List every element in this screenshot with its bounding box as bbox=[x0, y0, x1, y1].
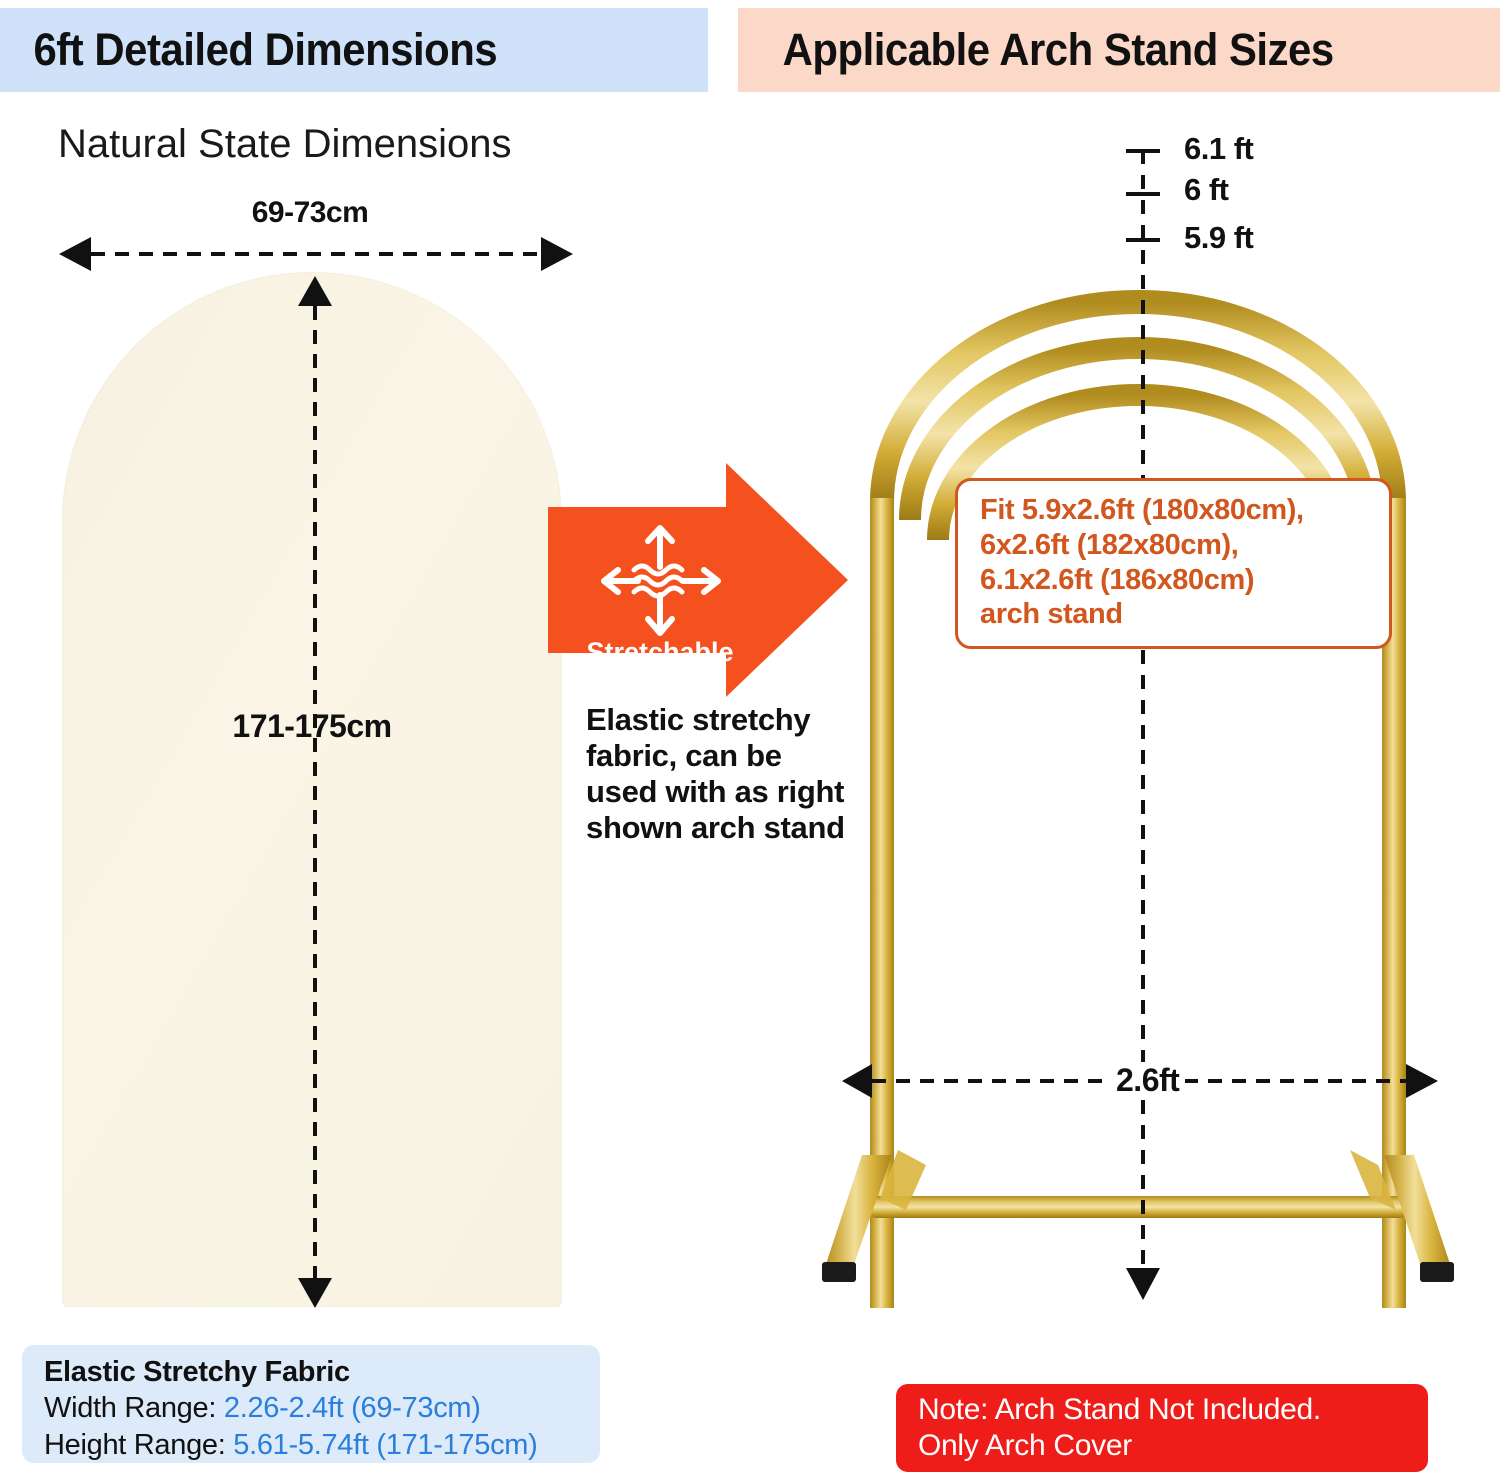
stretchable-label: Stretchable bbox=[586, 637, 733, 667]
stand-width-label: 2.6ft bbox=[1110, 1062, 1185, 1099]
header-right-title: Applicable Arch Stand Sizes bbox=[738, 24, 1334, 76]
fabric-height-row: Height Range: 5.61-5.74ft (171-175cm) bbox=[44, 1427, 600, 1463]
header-left-banner: 6ft Detailed Dimensions bbox=[0, 8, 708, 92]
fit-line-3: 6.1x2.6ft (186x80cm) bbox=[980, 563, 1375, 598]
note-box: Note: Arch Stand Not Included. Only Arch… bbox=[896, 1384, 1428, 1472]
note-line-2: Only Arch Cover bbox=[918, 1428, 1428, 1464]
fabric-width-value: 2.26-2.4ft (69-73cm) bbox=[224, 1392, 481, 1424]
header-left-title: 6ft Detailed Dimensions bbox=[0, 24, 497, 76]
width-dimension-arrow-icon bbox=[55, 232, 575, 276]
fit-line-2: 6x2.6ft (182x80cm), bbox=[980, 528, 1375, 563]
fabric-width-label: Width Range: bbox=[44, 1392, 216, 1424]
fabric-info-title: Elastic Stretchy Fabric bbox=[44, 1355, 600, 1390]
center-dimension-line bbox=[1108, 138, 1178, 1318]
height-dimension-label: 171-175cm bbox=[62, 708, 562, 745]
fit-line-4: arch stand bbox=[980, 597, 1375, 632]
fabric-width-row: Width Range: 2.26-2.4ft (69-73cm) bbox=[44, 1390, 600, 1426]
left-subtitle: Natural State Dimensions bbox=[58, 122, 512, 167]
note-line-1: Note: Arch Stand Not Included. bbox=[918, 1392, 1428, 1428]
arch-label-5-9ft: 5.9 ft bbox=[1184, 220, 1253, 256]
width-dimension-label: 69-73cm bbox=[0, 196, 620, 230]
fabric-height-value: 5.61-5.74ft (171-175cm) bbox=[233, 1429, 537, 1461]
fabric-height-label: Height Range: bbox=[44, 1429, 226, 1461]
arch-label-6-1ft: 6.1 ft bbox=[1184, 131, 1253, 167]
fit-line-1: Fit 5.9x2.6ft (180x80cm), bbox=[980, 493, 1375, 528]
header-right-banner: Applicable Arch Stand Sizes bbox=[738, 8, 1500, 92]
arch-label-6ft: 6 ft bbox=[1184, 172, 1229, 208]
fit-sizes-box: Fit 5.9x2.6ft (180x80cm), 6x2.6ft (182x8… bbox=[955, 478, 1392, 649]
height-dimension-arrow-icon bbox=[285, 272, 345, 1312]
foot-cap-right bbox=[1420, 1262, 1454, 1282]
fabric-info-box: Elastic Stretchy Fabric Width Range: 2.2… bbox=[22, 1345, 600, 1463]
foot-cap-left bbox=[822, 1262, 856, 1282]
